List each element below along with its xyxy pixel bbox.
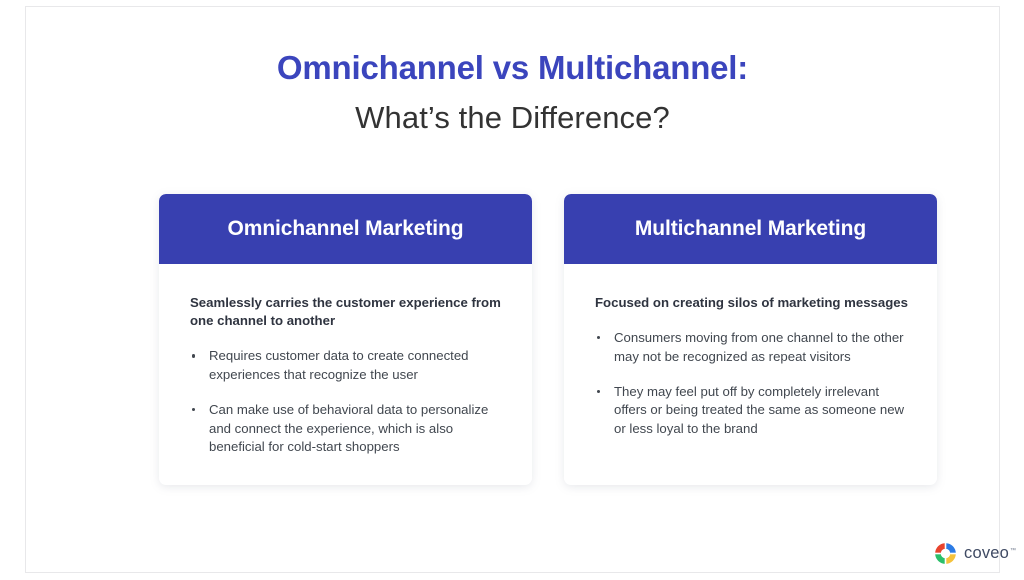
bullet-dot-icon bbox=[597, 336, 600, 339]
comparison-cards-row: Omnichannel Marketing Seamlessly carries… bbox=[159, 194, 937, 485]
list-item-text: Requires customer data to create connect… bbox=[209, 348, 469, 382]
bullet-dot-icon bbox=[192, 408, 195, 411]
card-multichannel-bullet-list: Consumers moving from one channel to the… bbox=[595, 329, 911, 439]
page-title: Omnichannel vs Multichannel: bbox=[26, 49, 999, 88]
card-omnichannel-bullet-list: Requires customer data to create connect… bbox=[190, 347, 506, 457]
brand-wordmark: coveo™ bbox=[964, 544, 1016, 563]
coveo-circle-logo-icon bbox=[934, 542, 957, 565]
card-omnichannel-body: Seamlessly carries the customer experien… bbox=[159, 264, 532, 457]
bullet-dot-icon bbox=[597, 390, 600, 393]
card-multichannel-title: Multichannel Marketing bbox=[635, 217, 866, 241]
list-item-text: They may feel put off by completely irre… bbox=[614, 384, 904, 436]
list-item: Requires customer data to create connect… bbox=[190, 347, 506, 384]
list-item: Can make use of behavioral data to perso… bbox=[190, 401, 506, 457]
slide-title-block: Omnichannel vs Multichannel: What’s the … bbox=[26, 49, 999, 137]
brand-logo: coveo™ bbox=[934, 542, 1016, 565]
card-multichannel-lede: Focused on creating silos of marketing m… bbox=[595, 294, 911, 312]
list-item: Consumers moving from one channel to the… bbox=[595, 329, 911, 366]
card-omnichannel-title: Omnichannel Marketing bbox=[228, 217, 464, 241]
list-item: They may feel put off by completely irre… bbox=[595, 383, 911, 439]
page-subtitle: What’s the Difference? bbox=[26, 100, 999, 137]
card-multichannel-body: Focused on creating silos of marketing m… bbox=[564, 264, 937, 439]
trademark-symbol: ™ bbox=[1010, 548, 1016, 554]
slide-canvas: Omnichannel vs Multichannel: What’s the … bbox=[25, 6, 1000, 573]
card-omnichannel[interactable]: Omnichannel Marketing Seamlessly carries… bbox=[159, 194, 532, 485]
list-item-text: Consumers moving from one channel to the… bbox=[614, 330, 904, 364]
card-omnichannel-lede: Seamlessly carries the customer experien… bbox=[190, 294, 506, 330]
list-item-text: Can make use of behavioral data to perso… bbox=[209, 402, 488, 454]
card-omnichannel-header: Omnichannel Marketing bbox=[159, 194, 532, 264]
card-multichannel-header: Multichannel Marketing bbox=[564, 194, 937, 264]
brand-wordmark-text: coveo bbox=[964, 544, 1009, 562]
card-multichannel[interactable]: Multichannel Marketing Focused on creati… bbox=[564, 194, 937, 485]
bullet-dot-icon bbox=[192, 354, 195, 357]
